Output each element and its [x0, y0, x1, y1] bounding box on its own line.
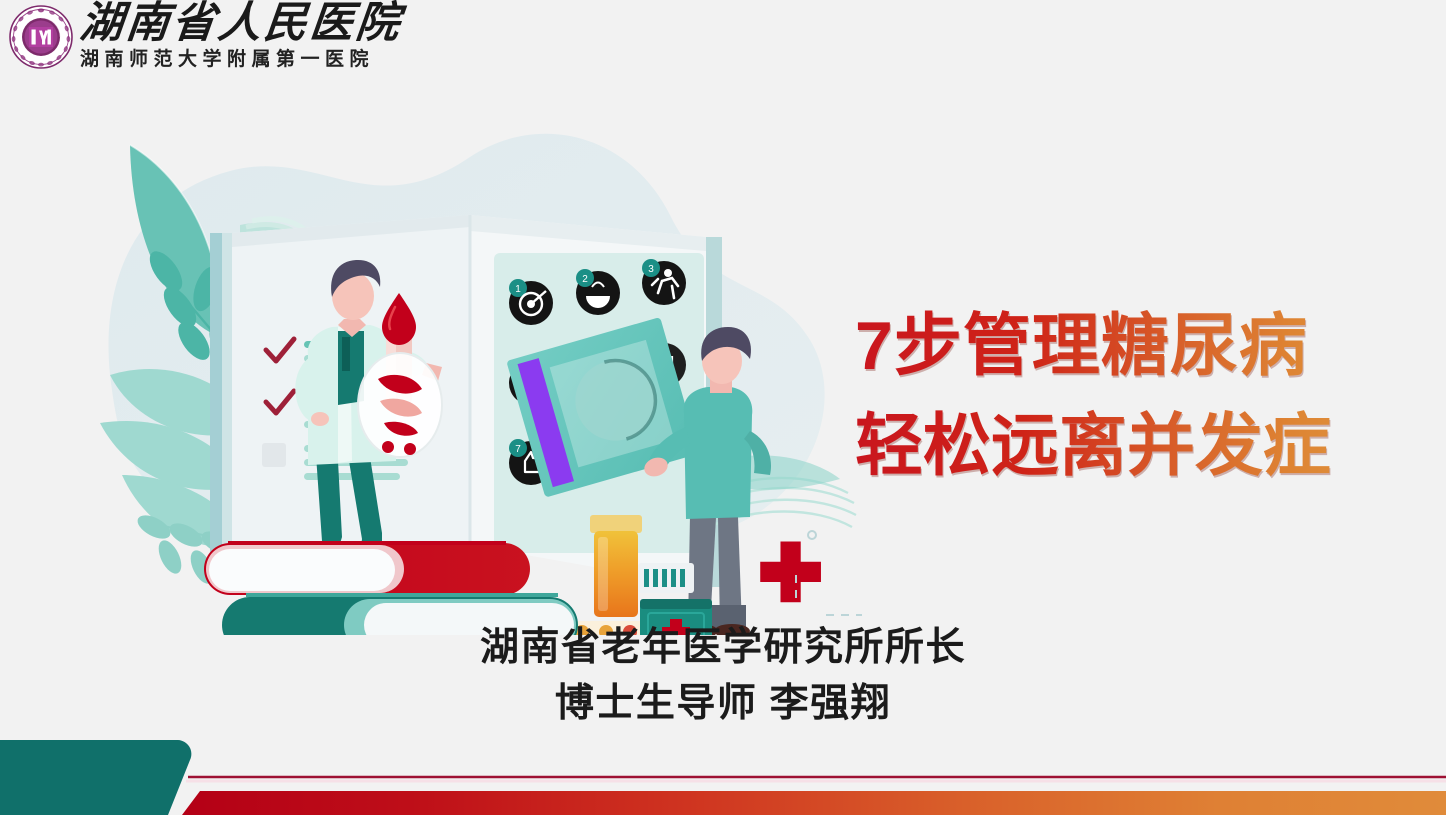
- hospital-crest-logo: [8, 4, 74, 70]
- svg-text:2: 2: [582, 274, 588, 285]
- svg-text:1: 1: [515, 284, 521, 295]
- pill-bottle: [590, 515, 642, 617]
- headline-line-1: 7步管理糖尿病: [855, 296, 1415, 396]
- slide-canvas: 湖南省人民医院 湖南师范大学附属第一医院: [0, 0, 1446, 815]
- svg-text:3: 3: [648, 264, 654, 275]
- bottom-decoration: [0, 720, 1446, 815]
- caption-line-1: 湖南省老年医学研究所所长: [0, 620, 1446, 676]
- hospital-name-block: 湖南省人民医院 湖南师范大学附属第一医院: [80, 2, 420, 78]
- hospital-affiliation: 湖南师范大学附属第一医院: [80, 48, 420, 72]
- headline-line-2: 轻松远离并发症: [855, 396, 1415, 496]
- svg-text:7: 7: [515, 444, 521, 455]
- hospital-name: 湖南省人民医院: [78, 2, 423, 46]
- red-cross-icon: [760, 542, 821, 603]
- gradient-bar: [182, 791, 1446, 815]
- presenter-caption: 湖南省老年医学研究所所长 博士生导师 李强翔: [0, 620, 1446, 732]
- headline-block: 7步管理糖尿病 轻松远离并发症: [855, 296, 1415, 496]
- diabetes-management-illustration: 1 2 3: [70, 75, 870, 635]
- monitor-strip: [638, 563, 694, 593]
- header-bar: 湖南省人民医院 湖南师范大学附属第一医院: [0, 0, 1446, 82]
- teal-angled-block: [0, 740, 191, 815]
- caption-line-2: 博士生导师 李强翔: [0, 676, 1446, 732]
